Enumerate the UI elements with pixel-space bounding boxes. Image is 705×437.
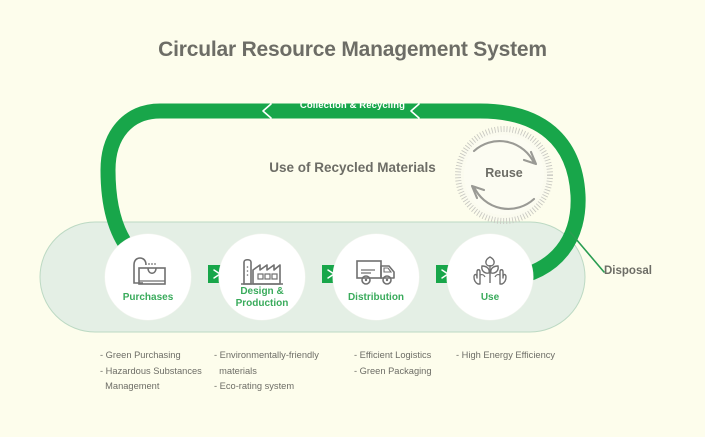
- stage-label-use: Use: [447, 292, 533, 304]
- details-column-use: - High Energy Efficiency: [456, 348, 596, 364]
- stage-node-design-production[interactable]: Design & Production: [219, 234, 305, 320]
- stage-node-purchases[interactable]: Purchases: [105, 234, 191, 320]
- hands-plant-icon: [447, 248, 533, 292]
- detail-item: Management: [100, 379, 215, 395]
- detail-item: - Hazardous Substances: [100, 364, 215, 380]
- reuse-label: Reuse: [469, 166, 539, 180]
- truck-icon: [333, 248, 419, 292]
- stage-node-distribution[interactable]: Distribution: [333, 234, 419, 320]
- stage-label-purchases: Purchases: [105, 292, 191, 304]
- details-column-purchases: - Green Purchasing - Hazardous Substance…: [100, 348, 215, 395]
- stage-node-use[interactable]: Use: [447, 234, 533, 320]
- details-column-design-production: - Environmentally-friendly materials - E…: [214, 348, 344, 395]
- return-band-label: Collection & Recycling: [0, 100, 705, 111]
- disposal-label: Disposal: [604, 265, 652, 277]
- details-column-distribution: - Efficient Logistics - Green Packaging: [354, 348, 464, 379]
- page-title: Circular Resource Management System: [0, 38, 705, 62]
- stage-label-distribution: Distribution: [333, 292, 419, 304]
- detail-item: - Green Packaging: [354, 364, 464, 380]
- detail-item: - High Energy Efficiency: [456, 348, 596, 364]
- detail-item: - Eco-rating system: [214, 379, 344, 395]
- detail-item: - Efficient Logistics: [354, 348, 464, 364]
- detail-item: - Environmentally-friendly: [214, 348, 344, 364]
- recycled-materials-label: Use of Recycled Materials: [0, 160, 705, 175]
- shopping-bag-icon: [105, 248, 191, 292]
- detail-item: materials: [214, 364, 344, 380]
- detail-item: - Green Purchasing: [100, 348, 215, 364]
- stage-label-design-production: Design & Production: [219, 286, 305, 309]
- diagram-canvas: Circular Resource Management System Coll…: [0, 0, 705, 437]
